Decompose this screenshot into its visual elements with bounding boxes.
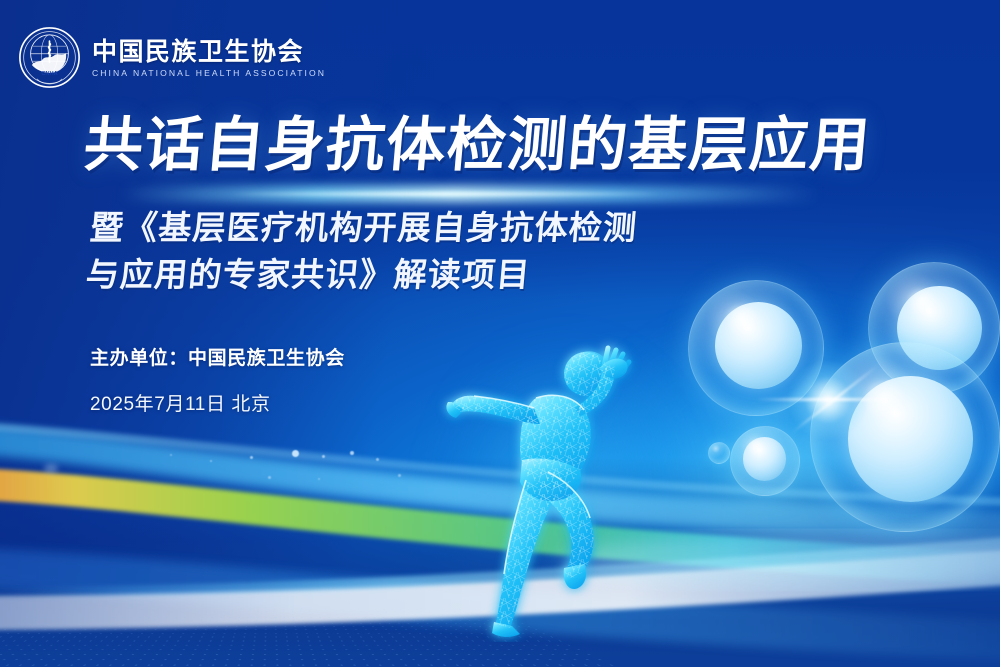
sub-title-line-1: 暨《基层医疗机构开展自身抗体检测 bbox=[88, 205, 852, 252]
organizer-text: 主办单位：中国民族卫生协会 bbox=[90, 348, 345, 371]
polygonal-runner-figure bbox=[408, 312, 708, 642]
molecule-bubble-cluster bbox=[670, 250, 1000, 580]
org-name-cn: 中国民族卫生协会 bbox=[92, 39, 326, 65]
title-light-streak-core bbox=[230, 192, 660, 196]
bubble-ring-tiny bbox=[708, 442, 730, 464]
main-title: 共话自身抗体检测的基层应用 bbox=[81, 115, 966, 177]
event-meta: 主办单位：中国民族卫生协会 2025年7月11日 北京 bbox=[90, 348, 345, 416]
date-location-text: 2025年7月11日 北京 bbox=[90, 389, 345, 416]
org-name-en: CHINA NATIONAL HEALTH ASSOCIATION bbox=[92, 69, 326, 78]
bubble-sphere-small bbox=[730, 426, 800, 496]
logo-text-block: 中国民族卫生协会 CHINA NATIONAL HEALTH ASSOCIATI… bbox=[92, 37, 326, 79]
conference-banner: CNHA 中国民族卫生协会 CHINA NATIONAL HEALTH ASSO… bbox=[0, 0, 1000, 667]
association-logo: CNHA 中国民族卫生协会 CHINA NATIONAL HEALTH ASSO… bbox=[18, 26, 326, 89]
emblem-inner-text: CNHA bbox=[41, 71, 57, 77]
sparkle-dots bbox=[0, 430, 420, 490]
cnha-emblem-icon: CNHA bbox=[18, 26, 81, 89]
